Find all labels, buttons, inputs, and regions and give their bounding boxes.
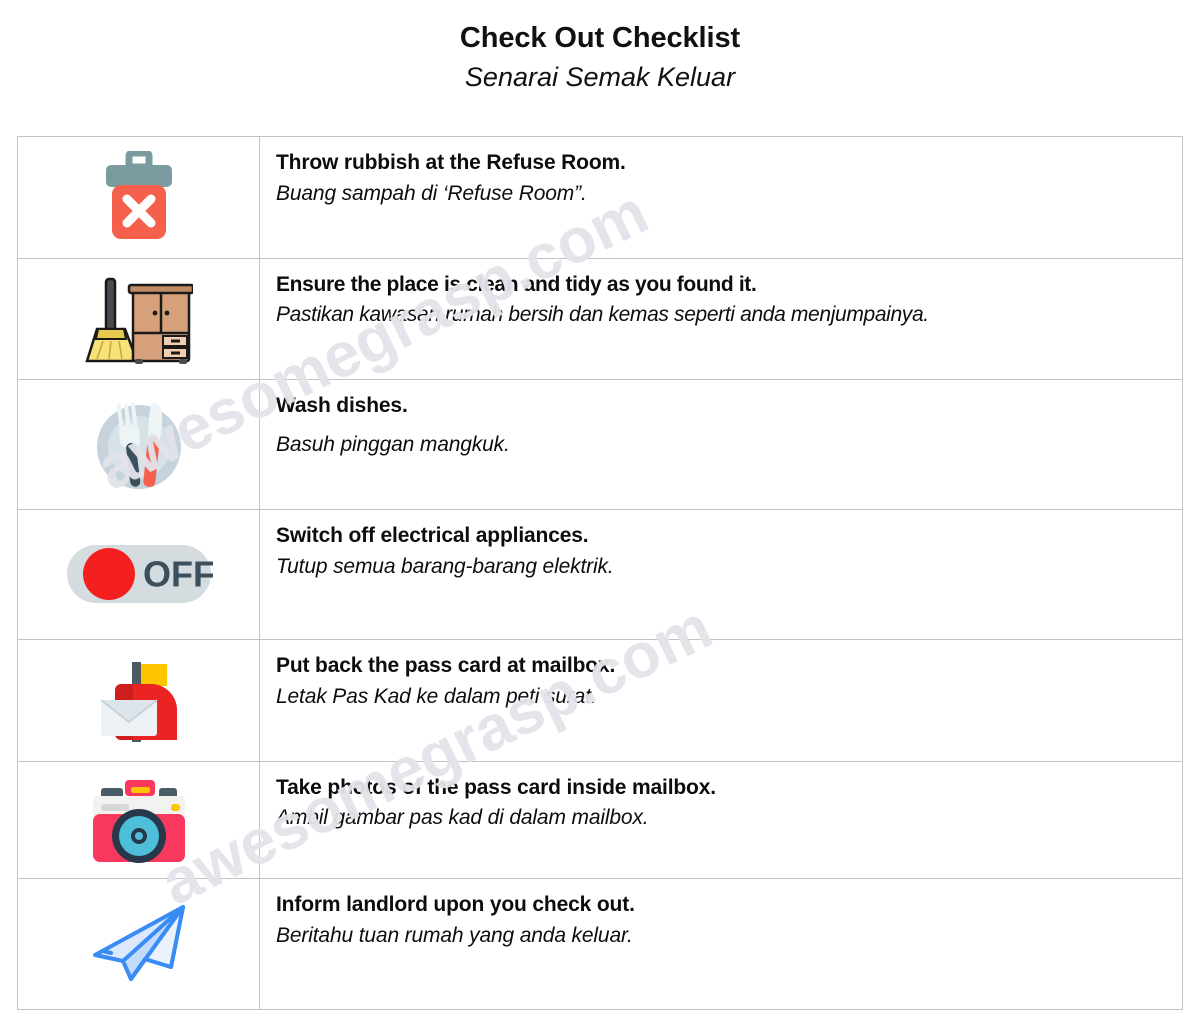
power-off-toggle-icon: OFF [65, 543, 213, 605]
text-cell: Throw rubbish at the Refuse Room. Buang … [260, 137, 1182, 258]
checklist-row-take-photos: Take photos of the pass card inside mail… [18, 762, 1182, 880]
instruction-ms: Ambil gambar pas kad di dalam mailbox. [276, 806, 1172, 831]
instruction-en: Throw rubbish at the Refuse Room. [276, 151, 1172, 176]
icon-cell [18, 259, 260, 380]
checklist-row-inform-landlord: Inform landlord upon you check out. Beri… [18, 879, 1182, 1009]
mailbox-icon [87, 654, 191, 746]
instruction-en: Put back the pass card at mailbox. [276, 654, 1172, 679]
instruction-ms: Buang sampah di ‘Refuse Room”. [276, 182, 1172, 207]
checklist-table: Throw rubbish at the Refuse Room. Buang … [17, 136, 1183, 1010]
instruction-ms: Basuh pinggan mangkuk. [276, 433, 1172, 458]
page-title: Check Out Checklist [0, 22, 1200, 54]
icon-cell [18, 879, 260, 1009]
paper-plane-icon [87, 901, 191, 987]
checklist-row-pass-card-mailbox: Put back the pass card at mailbox. Letak… [18, 640, 1182, 762]
icon-cell [18, 762, 260, 879]
checklist-row-throw-rubbish: Throw rubbish at the Refuse Room. Buang … [18, 137, 1182, 259]
checklist-row-wash-dishes: Wash dishes. Basuh pinggan mangkuk. [18, 380, 1182, 510]
instruction-ms: Beritahu tuan rumah yang anda keluar. [276, 924, 1172, 949]
toggle-label: OFF [143, 554, 213, 595]
icon-cell: OFF [18, 510, 260, 639]
instruction-ms: Letak Pas Kad ke dalam peti surat. [276, 685, 1172, 710]
icon-cell [18, 137, 260, 258]
dishes-plate-cutlery-icon [91, 397, 187, 493]
trash-can-icon [100, 151, 178, 243]
page-subtitle: Senarai Semak Keluar [0, 61, 1200, 95]
page-title-block: Check Out Checklist Senarai Semak Keluar [0, 0, 1200, 95]
instruction-en: Switch off electrical appliances. [276, 524, 1172, 549]
text-cell: Ensure the place is clean and tidy as yo… [260, 259, 1182, 380]
checkout-checklist-page: Check Out Checklist Senarai Semak Keluar [0, 0, 1200, 1035]
checklist-row-clean-tidy: Ensure the place is clean and tidy as yo… [18, 259, 1182, 381]
text-cell: Inform landlord upon you check out. Beri… [260, 879, 1182, 1009]
icon-cell [18, 380, 260, 509]
checklist-row-switch-off: OFF Switch off electrical appliances. Tu… [18, 510, 1182, 640]
text-cell: Wash dishes. Basuh pinggan mangkuk. [260, 380, 1182, 509]
text-cell: Take photos of the pass card inside mail… [260, 762, 1182, 879]
instruction-en: Take photos of the pass card inside mail… [276, 776, 1172, 801]
instruction-en: Inform landlord upon you check out. [276, 893, 1172, 918]
text-cell: Put back the pass card at mailbox. Letak… [260, 640, 1182, 761]
instruction-ms: Tutup semua barang-barang elektrik. [276, 555, 1172, 580]
instruction-en: Ensure the place is clean and tidy as yo… [276, 273, 1172, 298]
instruction-ms: Pastikan kawasan rumah bersih dan kemas … [276, 303, 1172, 328]
instruction-en: Wash dishes. [276, 394, 1172, 419]
broom-and-cabinet-icon [85, 273, 193, 365]
camera-icon [87, 774, 191, 866]
icon-cell [18, 640, 260, 761]
text-cell: Switch off electrical appliances. Tutup … [260, 510, 1182, 639]
